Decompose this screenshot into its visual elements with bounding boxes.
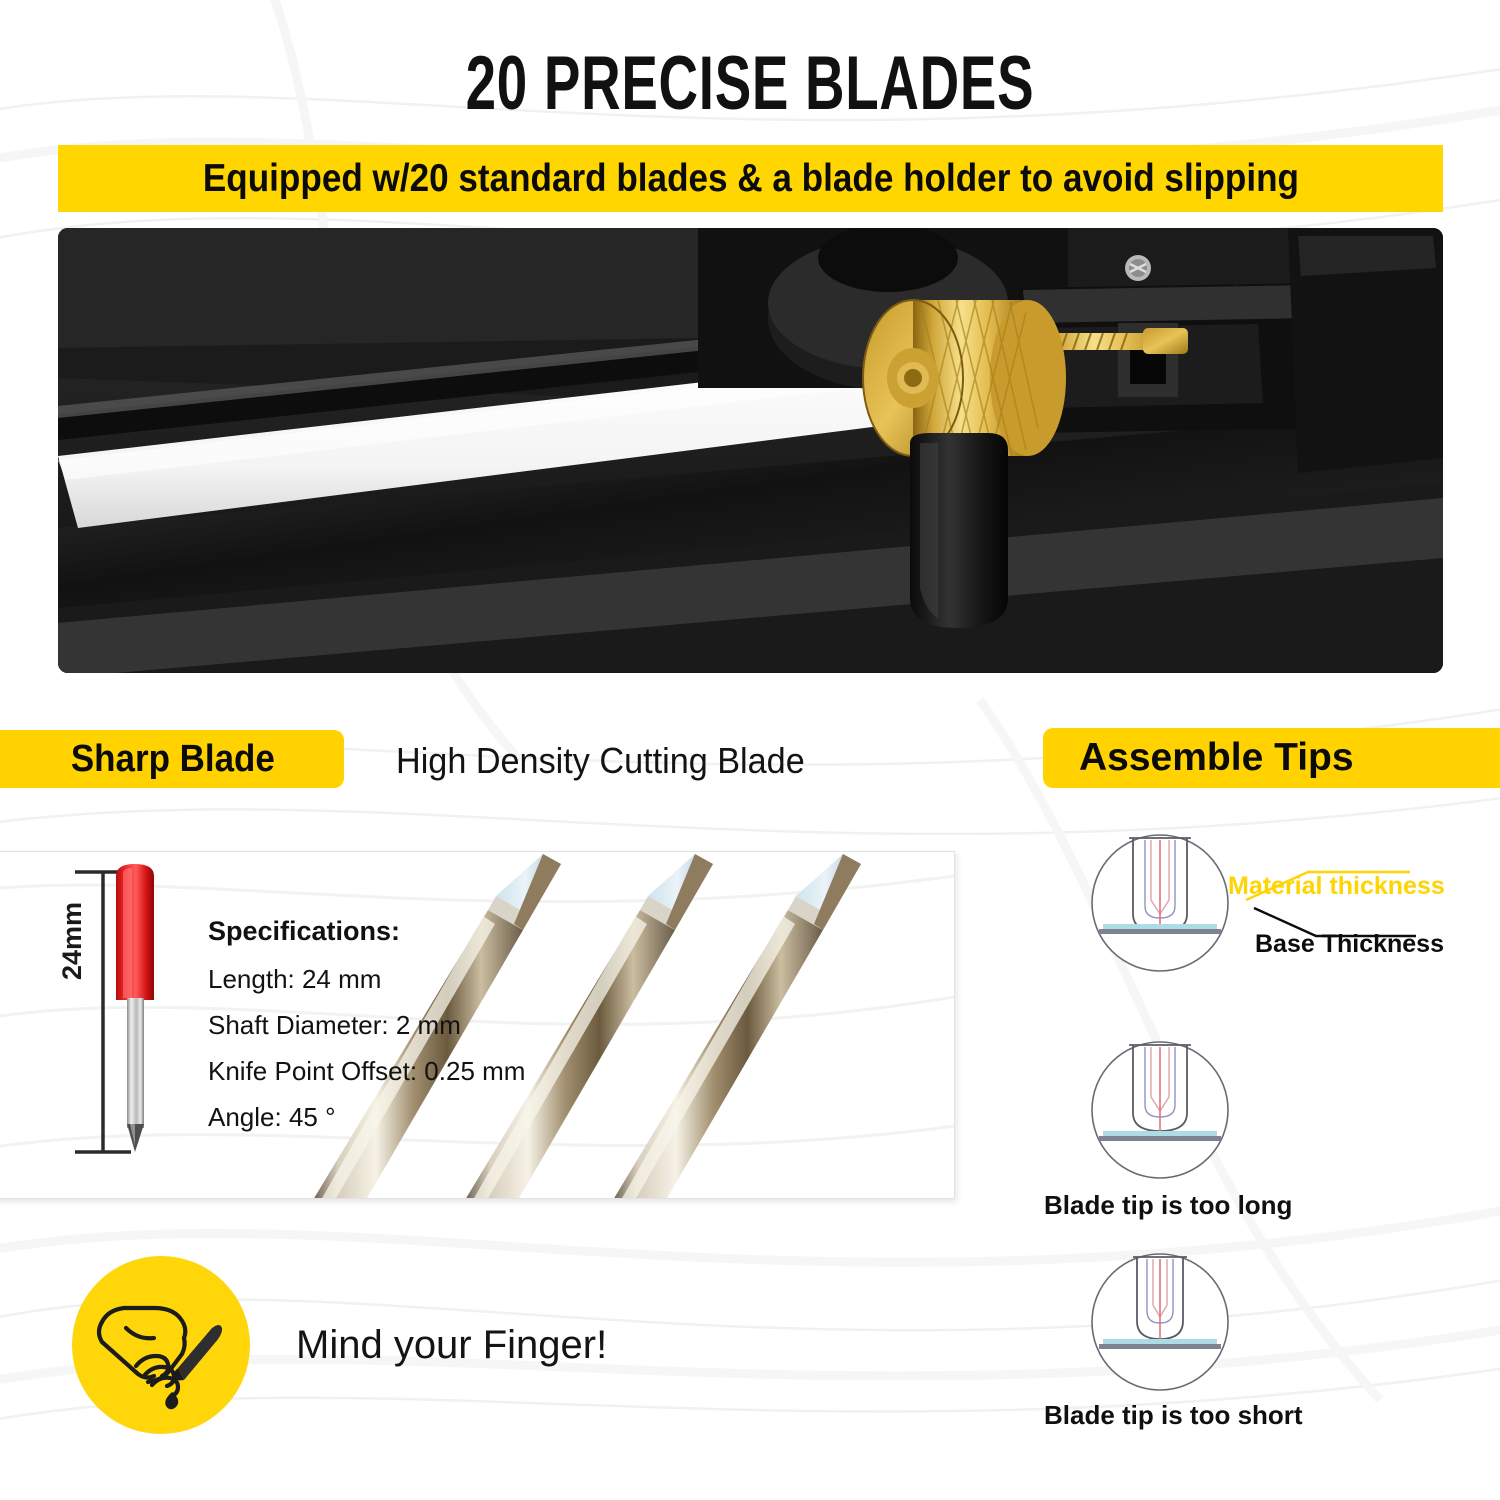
assemble-tip-too-short-diagram bbox=[1085, 1247, 1235, 1397]
assemble-tip-too-short bbox=[1085, 1247, 1235, 1402]
blade-dimension-label: 24mm bbox=[57, 902, 88, 980]
hand-pointing-blade-glyph bbox=[86, 1270, 236, 1420]
spec-angle: Angle: 45 ° bbox=[208, 1102, 525, 1133]
subtitle-banner-text: Equipped w/20 standard blades & a blade … bbox=[202, 157, 1298, 201]
badge-assemble-tips-label: Assemble Tips bbox=[1079, 736, 1354, 780]
blade-specifications: Specifications: Length: 24 mm Shaft Diam… bbox=[208, 916, 525, 1148]
spec-length: Length: 24 mm bbox=[208, 964, 525, 995]
spec-knife-point-offset: Knife Point Offset: 0.25 mm bbox=[208, 1056, 525, 1087]
product-photo bbox=[58, 228, 1443, 673]
sharp-blade-subtitle: High Density Cutting Blade bbox=[396, 740, 805, 782]
finger-warning-text: Mind your Finger! bbox=[296, 1323, 607, 1368]
product-photo-illustration bbox=[58, 228, 1443, 673]
badge-sharp-blade-label: Sharp Blade bbox=[71, 738, 275, 781]
assemble-tip-too-long bbox=[1085, 1035, 1235, 1190]
spec-title: Specifications: bbox=[208, 916, 525, 947]
annotation-base-thickness: Base Thickness bbox=[1255, 930, 1444, 959]
subtitle-banner: Equipped w/20 standard blades & a blade … bbox=[58, 145, 1443, 212]
assemble-tip-too-long-diagram bbox=[1085, 1035, 1235, 1185]
annotation-material-thickness: Material thickness bbox=[1228, 872, 1445, 901]
hand-pointing-blade-icon bbox=[72, 1256, 250, 1434]
finger-warning: Mind your Finger! bbox=[72, 1256, 607, 1434]
badge-assemble-tips: Assemble Tips bbox=[1043, 728, 1500, 788]
badge-sharp-blade: Sharp Blade bbox=[0, 730, 344, 788]
page-title: 20 PRECISE BLADES bbox=[210, 40, 1290, 127]
assemble-tip-too-long-caption: Blade tip is too long bbox=[1044, 1190, 1292, 1221]
assemble-tip-too-short-caption: Blade tip is too short bbox=[1044, 1400, 1303, 1431]
infographic-page: 20 PRECISE BLADES Equipped w/20 standard… bbox=[0, 0, 1500, 1500]
spec-shaft-diameter: Shaft Diameter: 2 mm bbox=[208, 1010, 525, 1041]
